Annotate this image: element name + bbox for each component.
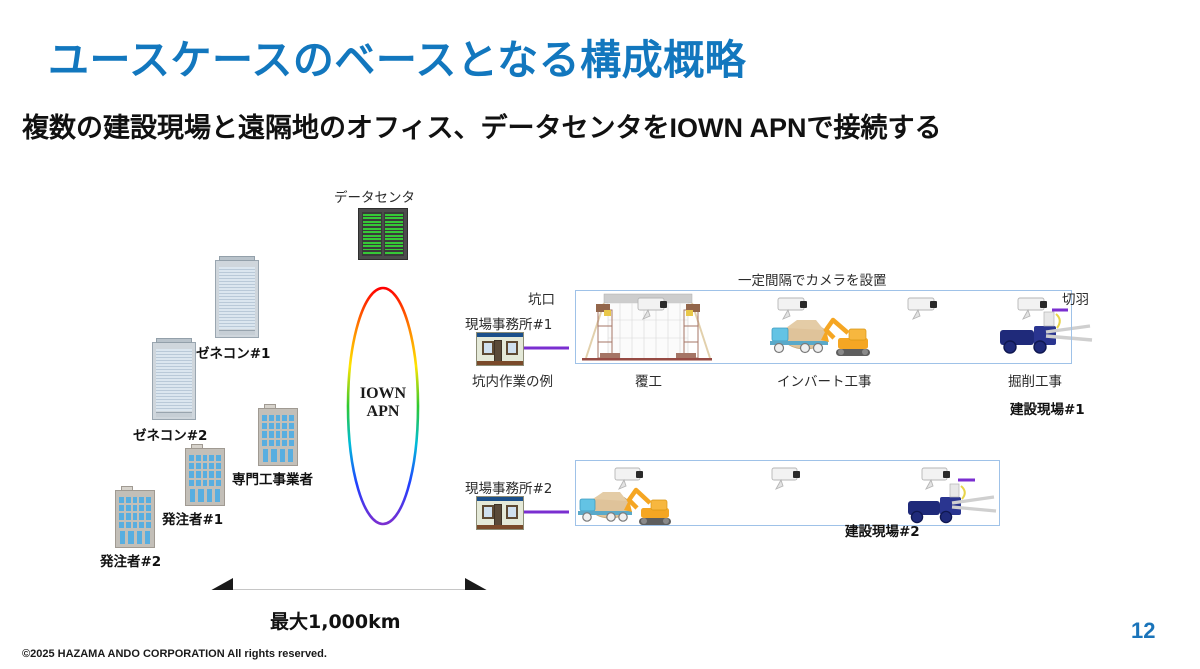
- building-icon-general-contractor-1: [215, 260, 259, 338]
- label-site-office-1: 現場事務所#1: [465, 313, 552, 333]
- building-icon-client-1: [185, 448, 225, 506]
- label-client-1: 発注者#1: [162, 508, 223, 528]
- site-office-hut-icon-1: [476, 332, 524, 366]
- label-client-2: 発注者#2: [100, 550, 161, 570]
- page-title: ユースケースのベースとなる構成概略: [48, 26, 746, 86]
- label-tunnel-work-example: 坑内作業の例: [472, 370, 553, 390]
- datacenter-rack-icon: [358, 208, 408, 260]
- label-site-office-2: 現場事務所#2: [465, 477, 552, 497]
- site-office-hut-icon-2: [476, 496, 524, 530]
- label-specialty-contractor: 専門工事業者: [232, 468, 313, 488]
- iown-apn-label-line2: APN: [367, 403, 400, 420]
- page-subtitle: 複数の建設現場と遠隔地のオフィス、データセンタをIOWN APNで接続する: [22, 106, 941, 145]
- label-max-distance: 最大1,000km: [270, 607, 401, 634]
- label-construction-site-1: 建設現場#1: [1010, 398, 1085, 418]
- label-camera-interval-note: 一定間隔でカメラを設置: [738, 269, 887, 289]
- label-construction-site-2: 建設現場#2: [845, 520, 920, 540]
- page-number: 12: [1131, 618, 1155, 644]
- copyright-notice: ©2025 HAZAMA ANDO CORPORATION All rights…: [22, 648, 327, 660]
- label-tunnel-face: 切羽: [1062, 288, 1089, 308]
- building-icon-general-contractor-2: [152, 342, 196, 420]
- datacenter-label: データセンタ: [334, 186, 415, 206]
- label-site1-stage-excavation: 掘削工事: [1008, 370, 1062, 390]
- label-tunnel-entrance: 坑口: [528, 288, 555, 308]
- iown-apn-label-line1: IOWN: [360, 385, 406, 402]
- label-general-contractor-2: ゼネコン#2: [133, 424, 207, 444]
- architecture-diagram: データセンタ IOWN APN ゼネコン#1 ゼネコン#2 専門工事業者 発注者…: [0, 170, 1200, 590]
- label-site1-stage-lining: 覆工: [635, 370, 662, 390]
- slide-root: ユースケースのベースとなる構成概略 複数の建設現場と遠隔地のオフィス、データセン…: [0, 0, 1200, 669]
- building-icon-client-2: [115, 490, 155, 548]
- site2-frame: [575, 460, 1000, 526]
- building-icon-specialty-contractor: [258, 408, 298, 466]
- site1-frame: [575, 290, 1072, 364]
- label-site1-stage-invert: インバート工事: [777, 370, 872, 390]
- iown-apn-node-label: IOWN APN: [348, 385, 418, 422]
- label-general-contractor-1: ゼネコン#1: [196, 342, 270, 362]
